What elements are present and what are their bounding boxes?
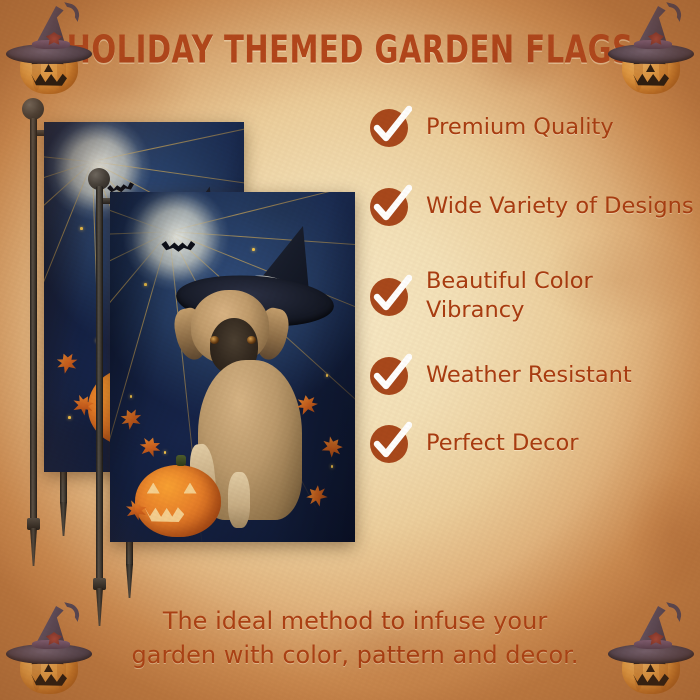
feature-label: Weather Resistant xyxy=(426,361,694,390)
garden-flag-front xyxy=(110,192,355,542)
feature-item-color-vibrancy: Beautiful Color Vibrancy xyxy=(368,254,694,338)
witch-hat-tip xyxy=(662,602,683,622)
stand-mast xyxy=(96,186,103,586)
check-circle-icon xyxy=(368,274,412,318)
feature-label: Perfect Decor xyxy=(426,429,694,458)
pumpkin-witch-hat-icon-bottom-right xyxy=(608,604,694,696)
feature-item-weather-resistant: Weather Resistant xyxy=(368,344,694,406)
jack-o-lantern xyxy=(135,465,221,537)
pumpkin-stem xyxy=(176,455,186,466)
tagline-line-1: The ideal method to infuse your xyxy=(70,604,640,638)
witch-hat-tip xyxy=(60,602,81,622)
witch-hat-tip xyxy=(662,2,683,22)
dog-rear-leg xyxy=(228,472,250,528)
feature-label: Premium Quality xyxy=(426,113,694,142)
promo-poster: HOLIDAY THEMED GARDEN FLAGS xyxy=(0,0,700,700)
feature-item-perfect-decor: Perfect Decor xyxy=(368,412,694,474)
feature-item-premium-quality: Premium Quality xyxy=(368,96,694,158)
page-title: HOLIDAY THEMED GARDEN FLAGS xyxy=(11,28,690,73)
stand-spike xyxy=(30,528,37,566)
check-circle-icon xyxy=(368,184,412,228)
feature-label: Beautiful Color Vibrancy xyxy=(426,267,694,325)
check-circle-icon xyxy=(368,105,412,149)
feature-list: Premium Quality Wide Variety of Designs … xyxy=(368,96,694,480)
tagline-line-2: garden with color, pattern and decor. xyxy=(70,638,640,672)
witch-hat-tip xyxy=(60,2,81,22)
pumpkin-witch-hat-icon-top-left xyxy=(6,4,92,96)
dog-eye-left xyxy=(210,336,219,344)
pumpkin-witch-hat-icon-bottom-left xyxy=(6,604,92,696)
feature-item-wide-variety: Wide Variety of Designs xyxy=(368,164,694,248)
stand-finial-icon xyxy=(22,98,44,120)
footer-tagline: The ideal method to infuse your garden w… xyxy=(70,604,640,672)
pumpkin-witch-hat-icon-top-right xyxy=(608,4,694,96)
stand-spike-rear xyxy=(126,564,133,598)
stand-spike-rear xyxy=(60,502,67,536)
feature-label: Wide Variety of Designs xyxy=(426,192,694,221)
check-circle-icon xyxy=(368,353,412,397)
check-circle-icon xyxy=(368,421,412,465)
dog-eye-right xyxy=(247,336,256,344)
stand-mast xyxy=(30,118,37,526)
